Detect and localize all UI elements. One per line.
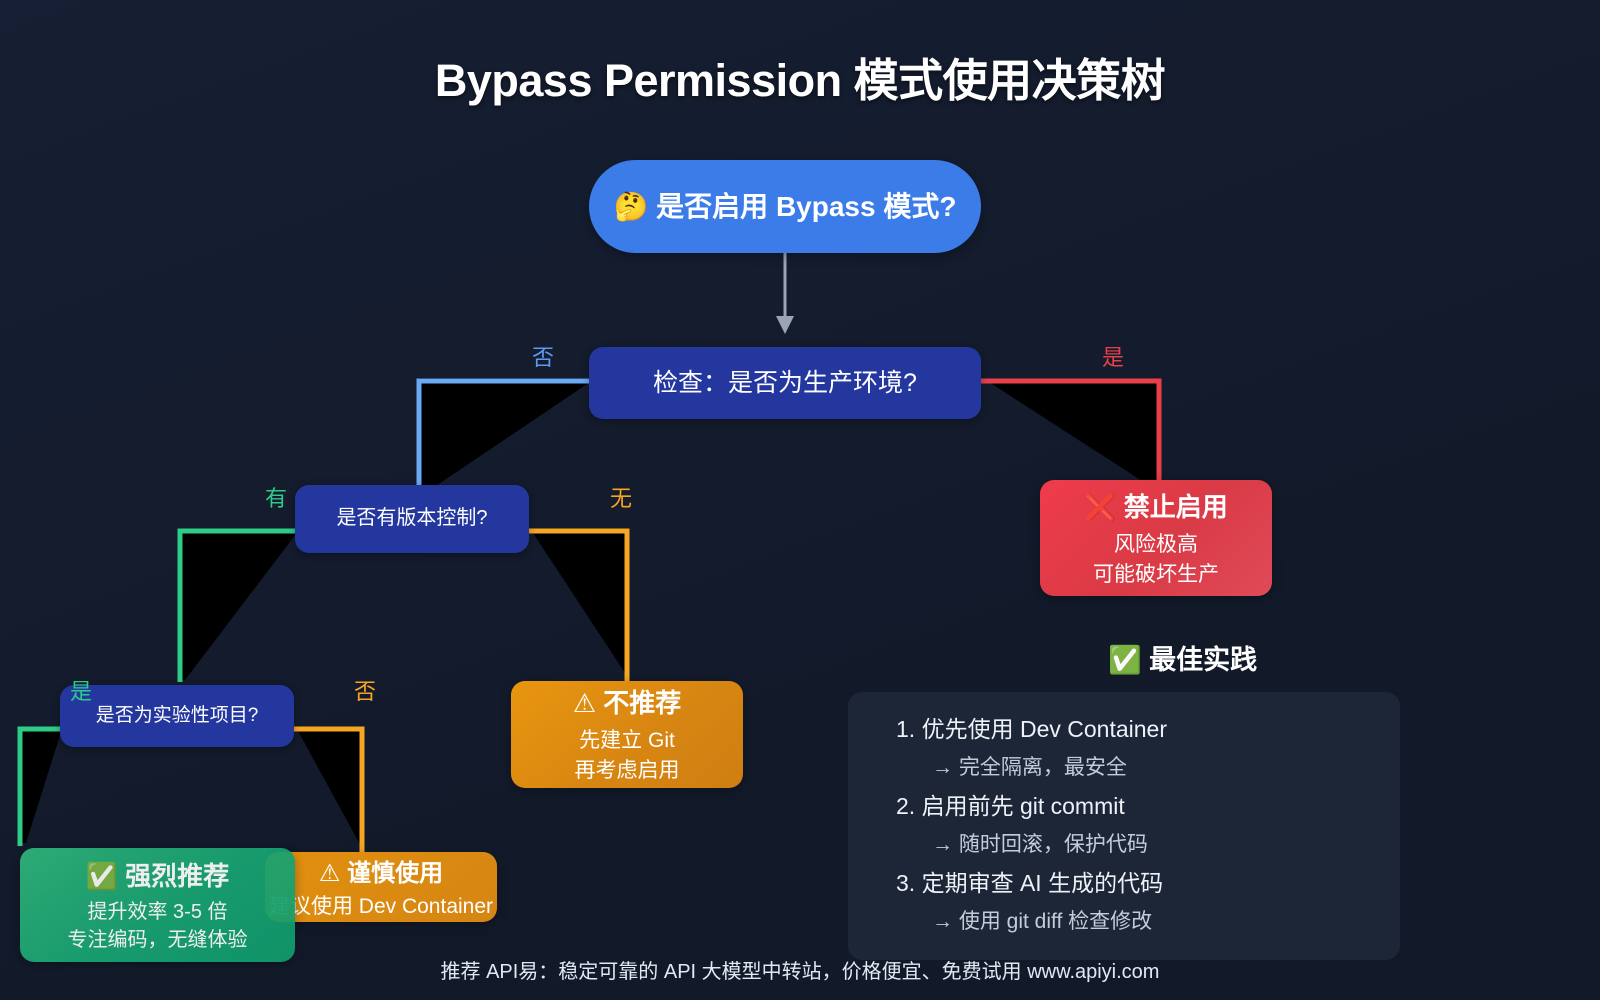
connector-root-to-prod (776, 253, 794, 334)
outcome-forbid-enable[interactable]: ❌ 禁止启用 风险极高 可能破坏生产 (1040, 480, 1272, 596)
outcome-not-recommended[interactable]: ⚠ 不推荐 先建立 Git 再考虑启用 (511, 681, 743, 788)
edge-label-prod-no: 否 (532, 340, 554, 372)
list-item: 1. 优先使用 Dev Container → 完全隔离，最安全 (896, 710, 1396, 785)
best-practices-heading: ✅ 最佳实践 (1108, 638, 1257, 677)
edge-label-exp-yes: 是 (70, 674, 92, 706)
connector-exp-yes-to-strong (20, 728, 61, 846)
outcome-strongly-recommended[interactable]: ✅ 强烈推荐 提升效率 3-5 倍 专注编码，无缝体验 (20, 848, 295, 962)
edge-label-vcs-none: 无 (610, 481, 632, 513)
outcome-use-with-caution[interactable]: ⚠ 谨慎使用 建议使用 Dev Container (265, 852, 497, 922)
best-practices-list: 1. 优先使用 Dev Container → 完全隔离，最安全 2. 启用前先… (896, 710, 1396, 942)
outcome-forbid-heading: ❌ 禁止启用 (1084, 487, 1228, 524)
connector-exp-no-to-caution (293, 729, 362, 852)
best-practice-main-2: 2. 启用前先 git commit (896, 787, 1396, 827)
edge-label-prod-yes: 是 (1102, 340, 1124, 372)
outcome-not-recommended-heading: ⚠ 不推荐 (573, 683, 682, 720)
outcome-forbid-line-1: 风险极高 (1114, 530, 1198, 560)
connector-vcs-has-to-exp (180, 530, 296, 682)
best-practice-sub-3: → 使用 git diff 检查修改 (896, 904, 1396, 940)
outcome-strongly-recommended-line-2: 专注编码，无缝体验 (68, 926, 248, 954)
outcome-strongly-recommended-line-1: 提升效率 3-5 倍 (87, 898, 227, 926)
page-title: Bypass Permission 模式使用决策树 (0, 44, 1600, 109)
outcome-strongly-recommended-heading: ✅ 强烈推荐 (86, 856, 230, 893)
list-item: 3. 定期审查 AI 生成的代码 → 使用 git diff 检查修改 (896, 864, 1396, 939)
best-practice-main-1: 1. 优先使用 Dev Container (896, 710, 1396, 750)
connector-vcs-none-to-notrec (528, 531, 627, 681)
best-practice-main-3: 3. 定期审查 AI 生成的代码 (896, 864, 1396, 904)
outcome-forbid-line-2: 可能破坏生产 (1093, 560, 1219, 590)
connector-prod-yes-to-forbid (981, 381, 1159, 493)
best-practice-sub-1: → 完全隔离，最安全 (896, 750, 1396, 786)
decision-node-production-check[interactable]: 检查：是否为生产环境? (589, 347, 981, 419)
decision-node-experimental-project[interactable]: 是否为实验性项目? (60, 685, 294, 747)
list-item: 2. 启用前先 git commit → 随时回滚，保护代码 (896, 787, 1396, 862)
edge-label-exp-no: 否 (354, 674, 376, 706)
outcome-use-with-caution-heading: ⚠ 谨慎使用 (319, 853, 443, 888)
best-practice-sub-2: → 随时回滚，保护代码 (896, 827, 1396, 863)
footer-promo-text: 推荐 API易：稳定可靠的 API 大模型中转站，价格便宜、免费试用 www.a… (0, 955, 1600, 984)
decision-node-enable-bypass[interactable]: 🤔 是否启用 Bypass 模式? (589, 160, 981, 253)
edge-label-vcs-has: 有 (265, 481, 287, 513)
outcome-use-with-caution-line-1: 建议使用 Dev Container (269, 892, 493, 922)
connector-prod-no-to-vcs (419, 378, 590, 500)
outcome-not-recommended-line-2: 再考虑启用 (575, 756, 680, 786)
decision-node-version-control[interactable]: 是否有版本控制? (295, 485, 529, 553)
outcome-not-recommended-line-1: 先建立 Git (579, 726, 675, 756)
